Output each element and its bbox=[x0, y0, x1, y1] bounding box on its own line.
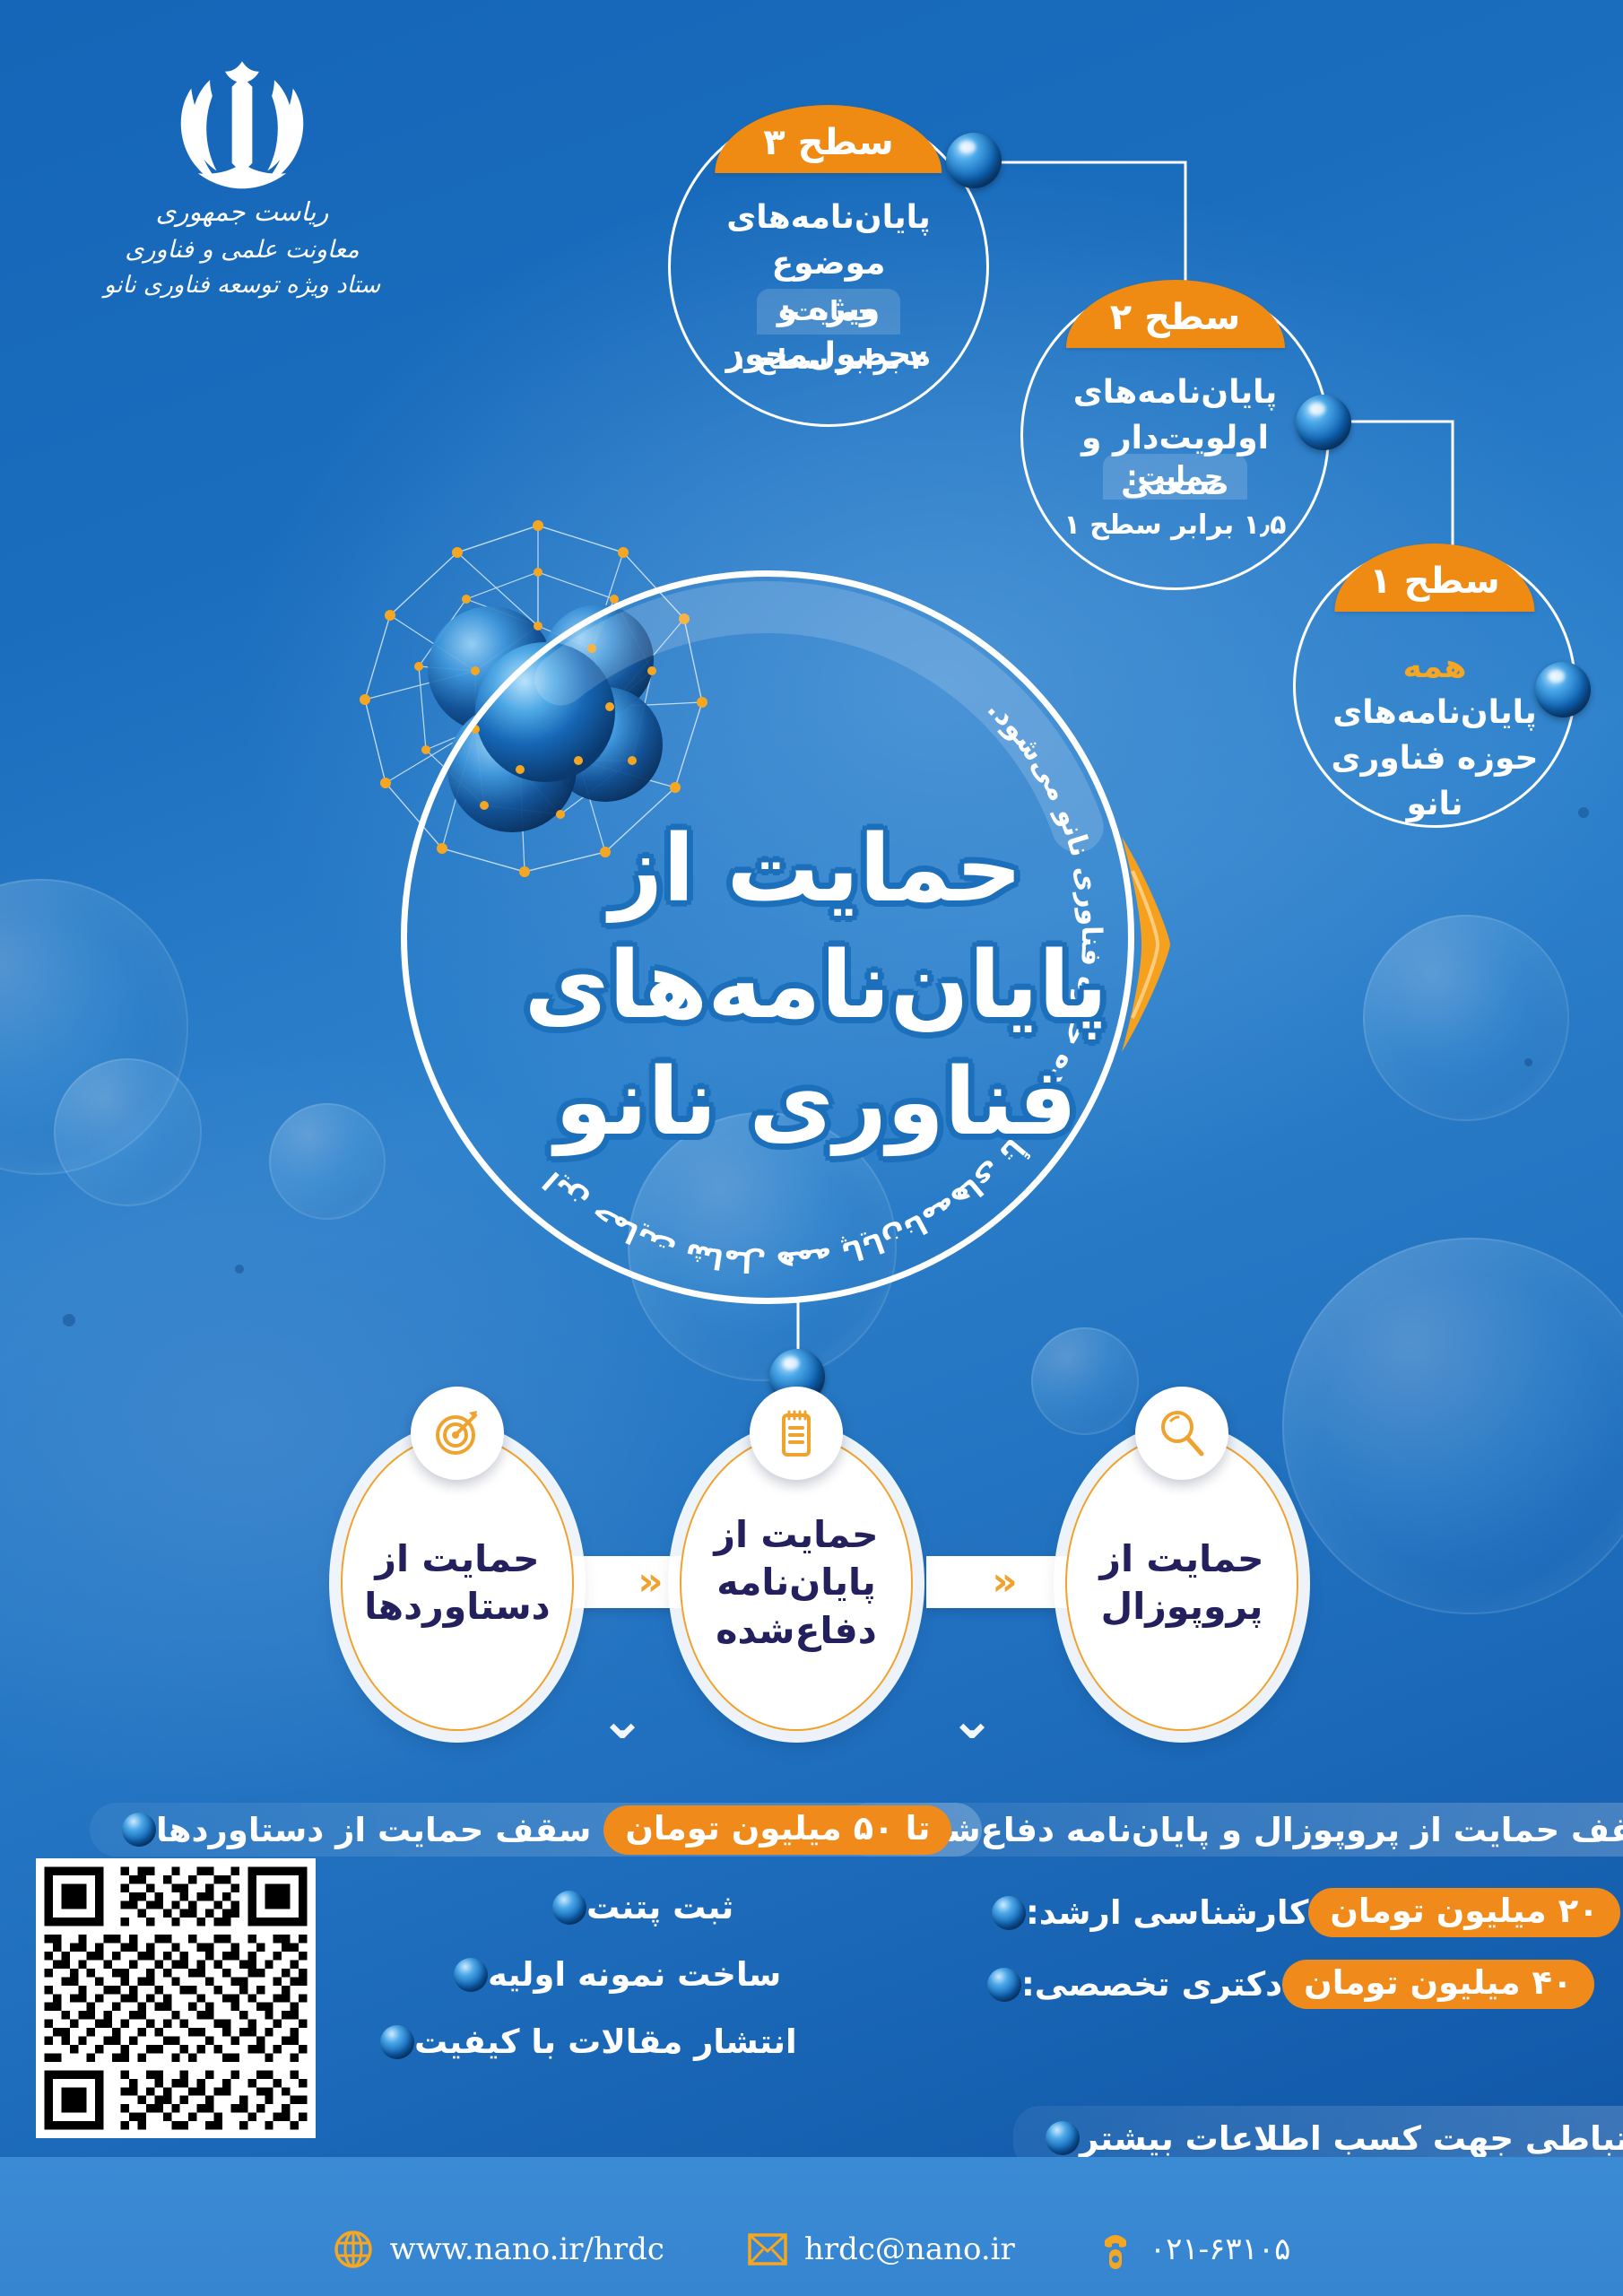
support-cap-left-item-2: ساخت نمونه اولیه bbox=[439, 1955, 781, 1994]
left-item-3-label: انتشار مقالات با کیفیت bbox=[414, 2022, 797, 2061]
process-step-proposal[interactable]: حمایت از پروپوزال bbox=[1065, 1435, 1298, 1731]
decorative-bubble bbox=[1031, 1327, 1139, 1435]
down-chevron-right-icon: ⌄ bbox=[949, 1686, 995, 1752]
level-2-support: حمایت: ۱٫۵ برابر سطح ۱ bbox=[1023, 454, 1327, 545]
achievements-line2: دستاوردها bbox=[364, 1583, 550, 1631]
contact-email[interactable]: hrdc@nano.ir bbox=[747, 2228, 1015, 2271]
left-heading-amount: تا ۵۰ میلیون تومان bbox=[603, 1805, 951, 1855]
level-1-body-rest: پایان‌نامه‌های bbox=[1332, 694, 1536, 731]
support-cap-left-item-3: انتشار مقالات با کیفیت bbox=[366, 2022, 797, 2061]
achievements-line1: حمایت از bbox=[364, 1535, 550, 1583]
process-step-achievements[interactable]: حمایت از دستاوردها bbox=[341, 1435, 574, 1731]
right-item-2-amount: ۴۰ میلیون تومان bbox=[1282, 1960, 1593, 2009]
decorative-dot bbox=[1578, 807, 1589, 818]
chevron-left-icon: « bbox=[638, 1562, 663, 1602]
process-label-defended-thesis: حمایت از پایان‌نامه دفاع‌شده bbox=[714, 1511, 878, 1655]
clipboard-icon bbox=[750, 1387, 843, 1480]
chevron-left-icon: « bbox=[992, 1562, 1017, 1602]
page-title: حمایت از پایان‌نامه‌های فناوری نانو bbox=[502, 812, 1130, 1161]
telephone-icon bbox=[1098, 2228, 1133, 2271]
contact-list: www.nano.ir/hrdc hrdc@nano.ir ۰۲۱-۶۳۱۰۵ bbox=[0, 2228, 1623, 2271]
proposal-line2: پروپوزال bbox=[1099, 1583, 1263, 1631]
right-item-2-label: دکتری تخصصی: bbox=[1021, 1965, 1282, 2004]
footer-bar bbox=[0, 2157, 1623, 2296]
process-label-proposal: حمایت از پروپوزال bbox=[1099, 1535, 1263, 1631]
right-item-1-amount: ۲۰ میلیون تومان bbox=[1308, 1888, 1619, 1937]
bullet-marble-icon bbox=[454, 1958, 488, 1992]
support-cap-left-heading: تا ۵۰ میلیون تومان سقف حمایت از دستاورده… bbox=[90, 1803, 982, 1857]
decorative-bubble bbox=[1363, 915, 1569, 1121]
left-item-1-label: ثبت پتنت bbox=[586, 1888, 733, 1926]
proposal-line1: حمایت از bbox=[1099, 1535, 1263, 1583]
process-label-achievements: حمایت از دستاوردها bbox=[364, 1535, 550, 1631]
process-connector-right: « bbox=[926, 1556, 1083, 1608]
right-heading-text: سقف حمایت از پروپوزال و پایان‌نامه دفاع‌… bbox=[909, 1811, 1623, 1849]
level-3-support: حمایت: ۲ برابر سطح ۱ bbox=[671, 289, 986, 380]
level-3-node-marble bbox=[946, 133, 1002, 188]
down-chevron-left-icon: ⌄ bbox=[599, 1686, 646, 1752]
decorative-dot bbox=[235, 1265, 244, 1274]
bullet-marble-icon bbox=[1046, 2121, 1080, 2155]
defended-line3: دفاع‌شده bbox=[714, 1607, 878, 1655]
title-line-1: حمایت از bbox=[502, 812, 1130, 928]
level-2-support-label: حمایت: bbox=[1103, 454, 1246, 500]
bullet-marble-icon bbox=[380, 2025, 414, 2059]
defended-line2: پایان‌نامه bbox=[714, 1559, 878, 1606]
bullet-marble-icon bbox=[992, 1896, 1026, 1930]
level-1-highlight: همه bbox=[1403, 648, 1467, 685]
website-text: www.nano.ir/hrdc bbox=[390, 2231, 664, 2267]
decorative-bubble bbox=[54, 1058, 202, 1206]
poster-canvas: ریاست جمهوری معاونت علمی و فناوری ستاد و… bbox=[0, 0, 1623, 2296]
qr-code-icon[interactable] bbox=[36, 1858, 316, 2138]
decorative-bubble bbox=[269, 1103, 386, 1220]
contact-phone[interactable]: ۰۲۱-۶۳۱۰۵ bbox=[1098, 2228, 1291, 2271]
bullet-marble-icon bbox=[122, 1813, 156, 1847]
decorative-bubble bbox=[0, 879, 188, 1175]
phone-text: ۰۲۱-۶۳۱۰۵ bbox=[1150, 2231, 1291, 2267]
magnifier-icon bbox=[1135, 1387, 1228, 1480]
title-line-2: پایان‌نامه‌های bbox=[502, 928, 1130, 1045]
contact-website[interactable]: www.nano.ir/hrdc bbox=[333, 2228, 664, 2271]
decorative-dot bbox=[63, 1314, 75, 1326]
level-2-body-line1: پایان‌نامه‌های bbox=[1045, 370, 1306, 415]
support-cap-right-item-1: ۲۰ میلیون تومان کارشناسی ارشد: bbox=[977, 1888, 1623, 1937]
level-3-support-value: ۲ برابر سطح ۱ bbox=[671, 340, 986, 380]
level-1-body: همه پایان‌نامه‌های حوزه فناوری نانو bbox=[1315, 644, 1555, 827]
support-cap-right-item-2: ۴۰ میلیون تومان دکتری تخصصی: bbox=[973, 1960, 1607, 2009]
level-3-support-label: حمایت: bbox=[757, 289, 900, 335]
level-1-body-line2: حوزه فناوری نانو bbox=[1315, 735, 1555, 827]
defended-line1: حمایت از bbox=[714, 1511, 878, 1559]
contact-heading-text: راه‌های ارتباطی جهت کسب اطلاعات بیشتر bbox=[1080, 2119, 1623, 2158]
level-2-circle[interactable]: سطح ۲ پایان‌نامه‌های اولویت‌دار و صنعتی … bbox=[1020, 281, 1330, 590]
level-1-node-marble bbox=[1535, 662, 1591, 717]
level-3-body-line1: پایان‌نامه‌های موضوع bbox=[693, 195, 965, 286]
title-line-3: فناوری نانو bbox=[502, 1045, 1130, 1161]
decorative-bubble bbox=[1282, 1238, 1623, 1614]
support-cap-left-item-1: ثبت پتنت bbox=[538, 1888, 733, 1926]
level-2-support-value: ۱٫۵ برابر سطح ۱ bbox=[1023, 505, 1327, 545]
level-3-circle[interactable]: سطح ۳ پایان‌نامه‌های موضوع ویژه و محصول‌… bbox=[668, 106, 989, 427]
globe-icon bbox=[333, 2229, 374, 2270]
right-item-1-label: کارشناسی ارشد: bbox=[1026, 1893, 1308, 1932]
envelope-icon bbox=[747, 2231, 788, 2267]
level-2-node-marble bbox=[1296, 395, 1351, 450]
left-item-2-label: ساخت نمونه اولیه bbox=[488, 1955, 781, 1994]
process-step-defended-thesis[interactable]: حمایت از پایان‌نامه دفاع‌شده bbox=[680, 1435, 913, 1731]
bullet-marble-icon bbox=[552, 1891, 586, 1925]
left-heading-text: سقف حمایت از دستاوردها bbox=[156, 1811, 591, 1849]
email-text: hrdc@nano.ir bbox=[804, 2231, 1015, 2267]
target-icon bbox=[411, 1387, 504, 1480]
decorative-dot bbox=[1524, 1058, 1532, 1066]
level-1-circle[interactable]: سطح ۱ همه پایان‌نامه‌های حوزه فناوری نان… bbox=[1293, 544, 1576, 828]
bullet-marble-icon bbox=[987, 1968, 1021, 2002]
level-1-body-line1: همه پایان‌نامه‌های bbox=[1315, 644, 1555, 735]
